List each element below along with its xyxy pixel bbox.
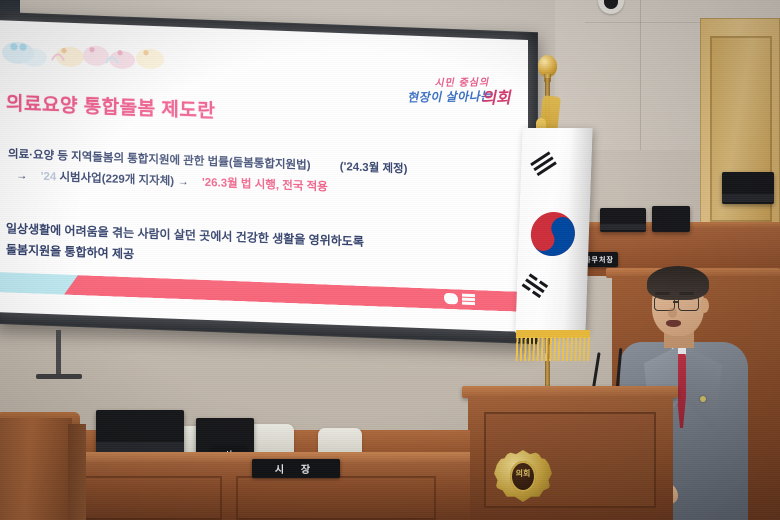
- monitor-rear-2: [652, 206, 690, 232]
- logo-line-3: 의회: [480, 84, 511, 108]
- front-desk-panel-right: [236, 476, 436, 520]
- monitor-rear-3-strip: [722, 194, 774, 202]
- slide-decoration-icon: [0, 28, 180, 77]
- speaker-brow-right: [679, 292, 694, 295]
- screen-stand-pole: [56, 330, 61, 378]
- speaker-lapel-pin-icon: [700, 396, 706, 402]
- left-pillar: [0, 418, 72, 520]
- speaker-mouth: [666, 320, 681, 327]
- logo-line-2: 현장이 살아나는: [407, 87, 492, 105]
- screen-stand-foot: [36, 374, 82, 379]
- arrow-icon: →: [16, 170, 28, 182]
- flag-fringe-tassels: [516, 337, 591, 361]
- footer-band-pink: [64, 275, 528, 312]
- trigram-gam-icon: [520, 273, 548, 300]
- speaker-brow-left: [655, 292, 670, 295]
- footer-logo-bars-icon: [462, 294, 475, 305]
- nameplate-mayor: 시 장: [252, 459, 340, 478]
- pilot-ghost-year: '24: [41, 171, 57, 184]
- slide-title: 의료요양 통합돌봄 제도란: [6, 88, 426, 131]
- eyeglasses-icon: [654, 296, 702, 309]
- council-chamber-photo: 시민 중심의 현장이 살아나는 의회 의료요양 통합돌봄 제도란 의료·요양 등…: [0, 0, 780, 520]
- trigram-geon-icon: [530, 151, 558, 178]
- slide-body: 의료·요양 등 지역돌봄의 통합지원에 관한 법률(돌봄통합지원법) ('24.…: [8, 149, 508, 210]
- presentation-slide: 시민 중심의 현장이 살아나는 의회 의료요양 통합돌봄 제도란 의료·요양 등…: [0, 20, 528, 332]
- monitor-rear-1-strip: [600, 224, 646, 230]
- pilot-accent-text: '26.3월 법 시행, 전국 적용: [202, 177, 328, 194]
- korean-flag-taegukgi: [515, 128, 592, 333]
- law-text: 의료·요양 등 지역돌봄의 통합지원에 관한 법률(돌봄통합지원법): [8, 149, 311, 172]
- left-pillar-side: [68, 424, 86, 520]
- speaker-nose: [668, 308, 677, 318]
- monitor-front-1-strip: [96, 442, 184, 452]
- footer-logo-mark-icon: [444, 293, 458, 305]
- arrow-icon-2: →: [177, 176, 189, 188]
- pilot-text: 시범사업(229개 지자체): [59, 172, 174, 188]
- council-emblem-icon: 의회: [494, 450, 552, 502]
- law-note: ('24.3월 제정): [340, 161, 408, 176]
- emblem-label: 의회: [510, 468, 536, 479]
